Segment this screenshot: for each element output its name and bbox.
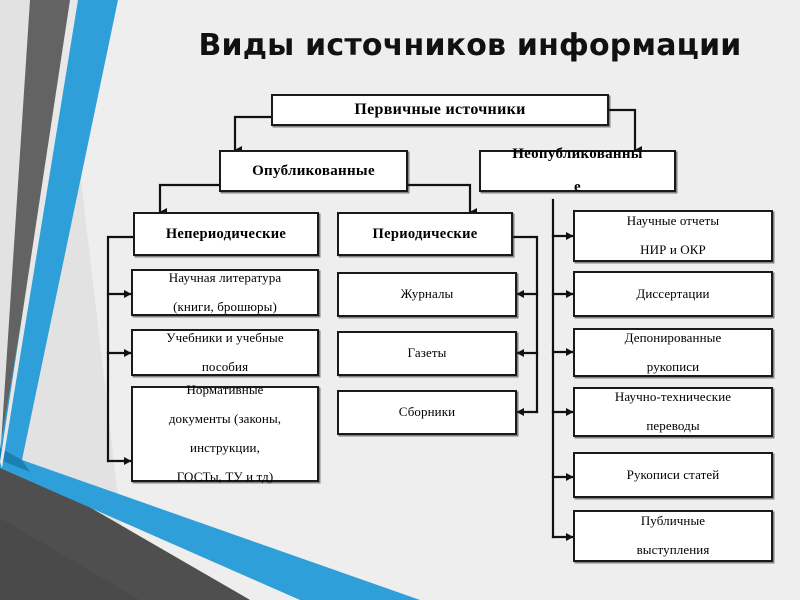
node-collections-label: Сборники [343,405,511,420]
node-public-speeches[interactable]: Публичные выступления [573,510,773,562]
node-newspapers[interactable]: Газеты [337,331,517,376]
node-dissertations-label: Диссертации [579,287,767,302]
node-root[interactable]: Первичные источники [271,94,609,126]
node-scientific-literature-label: Научная литература (книги, брошюры) [137,271,313,315]
connector-root-to-unpublished [609,110,635,150]
connector-root-to-published [235,117,271,150]
line-1: Научные отчеты [579,214,767,229]
node-unpublished-label: Неопубликованны е [485,146,670,196]
line-2: НИР и ОКР [579,243,767,258]
node-normative-documents-label: Нормативные документы (законы, инструкци… [137,383,313,485]
node-published-label: Опубликованные [225,163,402,180]
node-textbooks[interactable]: Учебники и учебные пособия [131,329,319,376]
node-unpublished-line1: Неопубликованны [485,146,670,163]
node-dissertations[interactable]: Диссертации [573,271,773,317]
line-1: Научная литература [137,271,313,286]
node-technical-translations[interactable]: Научно-технические переводы [573,387,773,437]
line-2: (книги, брошюры) [137,300,313,315]
node-nonperiodic-label: Непериодические [139,226,313,242]
node-periodic[interactable]: Периодические [337,212,513,256]
line-3: инструкции, [137,441,313,456]
node-scientific-literature[interactable]: Научная литература (книги, брошюры) [131,269,319,316]
node-periodic-label: Периодические [343,226,507,242]
line-2: документы (законы, [137,412,313,427]
node-deposited-manuscripts[interactable]: Депонированные рукописи [573,328,773,377]
line-2: пособия [137,360,313,375]
node-article-manuscripts[interactable]: Рукописи статей [573,452,773,498]
node-nonperiodic[interactable]: Непериодические [133,212,319,256]
node-research-reports[interactable]: Научные отчеты НИР и ОКР [573,210,773,262]
connector-nonperiodic-trunk [108,237,133,461]
line-1: Публичные [579,514,767,529]
node-article-manuscripts-label: Рукописи статей [579,468,767,483]
connector-published-to-nonperiodic [160,185,219,212]
line-2: рукописи [579,360,767,375]
line-1: Депонированные [579,331,767,346]
line-4: ГОСТы, ТУ и тд) [137,470,313,485]
line-1: Учебники и учебные [137,331,313,346]
connector-periodic-trunk [513,237,537,412]
node-textbooks-label: Учебники и учебные пособия [137,331,313,375]
node-published[interactable]: Опубликованные [219,150,408,192]
node-collections[interactable]: Сборники [337,390,517,435]
node-unpublished[interactable]: Неопубликованны е [479,150,676,192]
node-deposited-manuscripts-label: Депонированные рукописи [579,331,767,375]
node-technical-translations-label: Научно-технические переводы [579,390,767,434]
line-1: Нормативные [137,383,313,398]
connector-published-to-periodic [408,185,470,212]
line-2: переводы [579,419,767,434]
line-1: Научно-технические [579,390,767,405]
node-normative-documents[interactable]: Нормативные документы (законы, инструкци… [131,386,319,482]
node-public-speeches-label: Публичные выступления [579,514,767,558]
node-journals-label: Журналы [343,287,511,302]
line-2: выступления [579,543,767,558]
node-newspapers-label: Газеты [343,346,511,361]
node-journals[interactable]: Журналы [337,272,517,317]
node-unpublished-line2: е [485,179,670,196]
node-root-label: Первичные источники [277,101,603,119]
node-research-reports-label: Научные отчеты НИР и ОКР [579,214,767,258]
